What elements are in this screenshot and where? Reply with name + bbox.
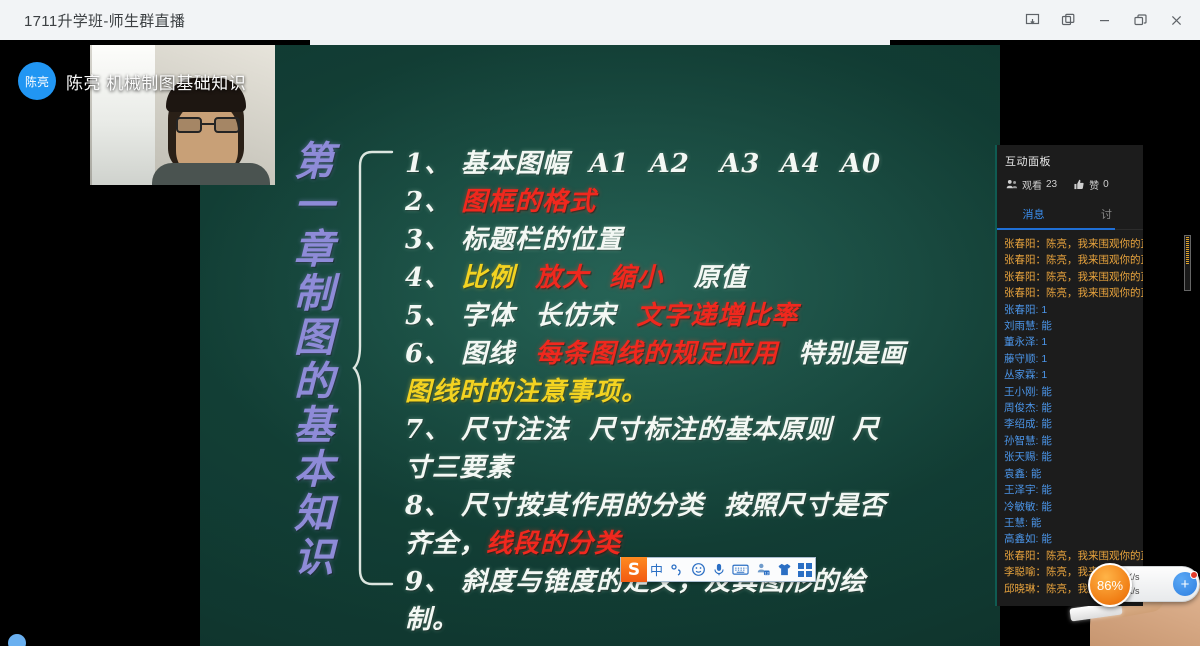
curly-brace-icon: [352, 148, 396, 593]
multiwindow-icon[interactable]: [1050, 4, 1086, 36]
panel-tabs: 消息 讨: [997, 200, 1143, 230]
list-item: 张春阳：陈亮，我来围观你的直: [1004, 236, 1143, 252]
chinese-mode-icon[interactable]: 中: [647, 557, 666, 582]
list-item: 张天赐: 能: [1004, 449, 1143, 465]
board-seg: 6、 图线: [405, 339, 535, 369]
list-item: 冷敏敏: 能: [1004, 499, 1143, 515]
toolbox-icon[interactable]: 12: [752, 557, 774, 582]
corner-blue-dot-icon: [8, 634, 26, 646]
board-seg: 寸三要素: [405, 453, 513, 483]
app-root: 1711升学班-师生群直播 第一章制图的基: [0, 0, 1200, 646]
notification-badge: [1190, 571, 1198, 579]
msg-name: 董永泽: [1004, 336, 1036, 348]
board-line: 3、 标题栏的位置: [405, 221, 975, 259]
msg-name: 李聪喻: [1004, 566, 1036, 578]
list-item: 张春阳：陈亮，我来围观你的直: [1004, 269, 1143, 285]
list-item: 张春阳：陈亮，我来围观你的直: [1004, 285, 1143, 301]
menu-grid-icon[interactable]: [795, 557, 815, 582]
msg-text: : 能: [1025, 517, 1041, 529]
window-titlebar: 1711升学班-师生群直播: [0, 0, 1200, 40]
board-seg: 图框的格式: [461, 187, 596, 217]
panel-scrollbar[interactable]: [1184, 235, 1191, 291]
msg-name: 丛家霖: [1004, 369, 1036, 381]
window-controls: [1014, 0, 1200, 40]
glasses-right-lens: [214, 117, 240, 133]
panel-stats: 观看 23 赞 0: [997, 175, 1143, 200]
msg-name: 袁鑫: [1004, 468, 1025, 480]
board-seg: 齐全，: [405, 529, 486, 559]
list-item: 王泽宇: 能: [1004, 482, 1143, 498]
board-line: 8、 尺寸按其作用的分类 按照尺寸是否: [405, 487, 975, 525]
board-seg: 5、 字体 长仿宋: [405, 301, 636, 331]
scroll-tick: [1186, 237, 1189, 238]
list-item: 丛家霖: 1: [1004, 367, 1143, 383]
msg-text: ：陈亮，我来围观你的直: [1036, 238, 1144, 250]
camera-window-bg: [92, 45, 162, 185]
snapshot-icon[interactable]: [1014, 4, 1050, 36]
msg-name: 刘雨慧: [1004, 320, 1036, 332]
scroll-tick: [1186, 241, 1189, 242]
msg-text: : 能: [1036, 484, 1052, 496]
msg-name: 周俊杰: [1004, 402, 1036, 414]
window-title: 1711升学班-师生群直播: [24, 10, 185, 31]
msg-text: : 能: [1036, 386, 1052, 398]
board-line: 图线时的注意事项。: [405, 373, 975, 411]
msg-text: : 能: [1036, 435, 1052, 447]
board-seg: 1、 基本图幅 A1 A2 A3 A4 A0: [405, 149, 881, 179]
board-line: 2、 图框的格式: [405, 183, 975, 221]
scroll-tick: [1186, 245, 1189, 246]
likes-count: 0: [1103, 179, 1109, 190]
msg-name: 王泽宇: [1004, 484, 1036, 496]
msg-name: 王小刚: [1004, 386, 1036, 398]
list-item: 王小刚: 能: [1004, 384, 1143, 400]
svg-text:12: 12: [764, 571, 769, 575]
list-item: 孙智慧: 能: [1004, 433, 1143, 449]
scroll-tick: [1186, 253, 1189, 254]
glasses-left-lens: [176, 117, 202, 133]
likes-label: 赞: [1089, 177, 1099, 192]
scroll-tick: [1186, 255, 1189, 256]
msg-text: : 能: [1036, 402, 1052, 414]
list-item: 刘雨慧: 能: [1004, 318, 1143, 334]
board-line: 7、 尺寸注法 尺寸标注的基本原则 尺: [405, 411, 975, 449]
glasses-bridge: [202, 123, 214, 125]
scroll-tick: [1186, 251, 1189, 252]
msg-text: ：陈亮，我来围观你的直: [1036, 287, 1144, 299]
scroll-tick: [1186, 249, 1189, 250]
list-item: 袁鑫: 能: [1004, 466, 1143, 482]
scroll-tick: [1186, 261, 1189, 262]
memory-gauge-button[interactable]: 86%: [1088, 563, 1132, 607]
msg-text: : 1: [1036, 304, 1048, 316]
board-seg: 比例: [461, 263, 515, 293]
sogou-ime-toolbar[interactable]: S 中 12: [620, 557, 816, 582]
board-seg: 放大 缩小: [515, 263, 663, 293]
accelerate-button[interactable]: +: [1173, 572, 1197, 596]
soft-keyboard-icon[interactable]: [729, 557, 752, 582]
msg-name: 冷敏敏: [1004, 501, 1036, 513]
thumbs-up-icon: [1073, 179, 1085, 190]
board-seg: 4、: [405, 263, 461, 293]
board-seg: 8、 尺寸按其作用的分类 按照尺寸是否: [405, 491, 886, 521]
presenter-body: [152, 163, 270, 185]
tab-active-underline: [997, 228, 1115, 230]
viewers-label: 观看: [1022, 177, 1042, 192]
tab-second[interactable]: 讨: [1070, 200, 1143, 229]
msg-text: ：陈亮，我来围观你的直: [1036, 271, 1144, 283]
msg-text: : 能: [1036, 501, 1052, 513]
panel-title: 互动面板: [997, 145, 1143, 175]
board-seg: 3、 标题栏的位置: [405, 225, 623, 255]
board-seg: 图线时的注意事项。: [405, 377, 648, 407]
msg-text: ：陈亮，我来围观你的直: [1036, 550, 1144, 562]
board-line: 制。: [405, 601, 975, 639]
msg-name: 孙智慧: [1004, 435, 1036, 447]
punctuation-icon[interactable]: [666, 557, 688, 582]
board-seg: 特别是画: [778, 339, 906, 369]
msg-name: 高鑫如: [1004, 533, 1036, 545]
msg-name: 张春阳: [1004, 238, 1036, 250]
msg-text: : 能: [1036, 451, 1052, 463]
msg-name: 张春阳: [1004, 254, 1036, 266]
msg-name: 张春阳: [1004, 271, 1036, 283]
msg-name: 张春阳: [1004, 304, 1036, 316]
msg-name: 邱晓琳: [1004, 583, 1036, 595]
people-icon: [1006, 179, 1018, 190]
presenter-glasses-icon: [176, 117, 240, 133]
msg-text: : 1: [1036, 369, 1048, 381]
likes-stat: 赞 0: [1073, 177, 1109, 192]
viewers-stat: 观看 23: [1006, 177, 1057, 192]
board-line: 4、 比例 放大 缩小 原值: [405, 259, 975, 297]
avatar[interactable]: 陈亮: [18, 62, 56, 100]
board-seg: 每条图线的规定应用: [535, 339, 778, 369]
msg-text: ：陈亮，我来围观你的直: [1036, 254, 1144, 266]
board-line: 6、 图线 每条图线的规定应用 特别是画: [405, 335, 975, 373]
list-item: 李绍成: 能: [1004, 416, 1143, 432]
list-item: 张春阳: 1: [1004, 302, 1143, 318]
board-line: 5、 字体 长仿宋 文字递增比率: [405, 297, 975, 335]
scroll-tick: [1186, 259, 1189, 260]
sogou-logo-icon[interactable]: S: [621, 557, 647, 582]
msg-name: 张天赐: [1004, 451, 1036, 463]
msg-text: : 1: [1036, 336, 1048, 348]
board-line: 寸三要素: [405, 449, 975, 487]
msg-text: : 能: [1036, 320, 1052, 332]
tab-messages[interactable]: 消息: [997, 200, 1070, 229]
board-seg: 原值: [663, 263, 747, 293]
list-item: 张春阳：陈亮，我来围观你的直: [1004, 252, 1143, 268]
board-seg: 7、 尺寸注法 尺寸标注的基本原则 尺: [405, 415, 879, 445]
list-item: 藤守顺: 1: [1004, 351, 1143, 367]
scroll-tick: [1186, 247, 1189, 248]
board-seg: 文字递增比率: [636, 301, 798, 331]
list-item: 张春阳：陈亮，我来围观你的直: [1004, 548, 1143, 564]
chapter-title: 第一章制图的基本知识: [272, 140, 334, 580]
scroll-tick: [1186, 263, 1189, 264]
list-item: 王慧: 能: [1004, 515, 1143, 531]
interactive-panel: 互动面板 观看 23 赞 0 消息 讨 张春阳：陈亮，我来围观你: [995, 145, 1143, 606]
list-item: 董永泽: 1: [1004, 334, 1143, 350]
message-list[interactable]: 张春阳：陈亮，我来围观你的直 张春阳：陈亮，我来围观你的直 张春阳：陈亮，我来围…: [997, 230, 1143, 606]
msg-text: : 能: [1036, 418, 1052, 430]
scroll-tick: [1186, 257, 1189, 258]
close-icon[interactable]: [1158, 4, 1194, 36]
msg-name: 王慧: [1004, 517, 1025, 529]
board-seg: 制。: [405, 605, 459, 635]
msg-text: : 能: [1025, 468, 1041, 480]
msg-name: 张春阳: [1004, 287, 1036, 299]
minimize-icon[interactable]: [1086, 4, 1122, 36]
skin-icon[interactable]: [774, 557, 795, 582]
msg-name: 藤守顺: [1004, 353, 1036, 365]
restore-icon[interactable]: [1122, 4, 1158, 36]
scroll-tick: [1186, 243, 1189, 244]
board-line: 1、 基本图幅 A1 A2 A3 A4 A0: [405, 145, 975, 183]
viewers-count: 23: [1046, 179, 1057, 190]
msg-text: : 能: [1036, 533, 1052, 545]
voice-input-icon[interactable]: [709, 557, 729, 582]
msg-name: 李绍成: [1004, 418, 1036, 430]
plus-icon: +: [1181, 576, 1190, 593]
list-item: 周俊杰: 能: [1004, 400, 1143, 416]
stream-title: 陈亮 机械制图基础知识: [66, 69, 246, 94]
msg-text: : 1: [1036, 353, 1048, 365]
board-seg: 2、: [405, 187, 461, 217]
scroll-tick: [1186, 239, 1189, 240]
board-seg: 线段的分类: [486, 529, 621, 559]
list-item: 高鑫如: 能: [1004, 531, 1143, 547]
presenter-camera[interactable]: [90, 45, 275, 185]
msg-name: 张春阳: [1004, 550, 1036, 562]
emoji-icon[interactable]: [688, 557, 709, 582]
